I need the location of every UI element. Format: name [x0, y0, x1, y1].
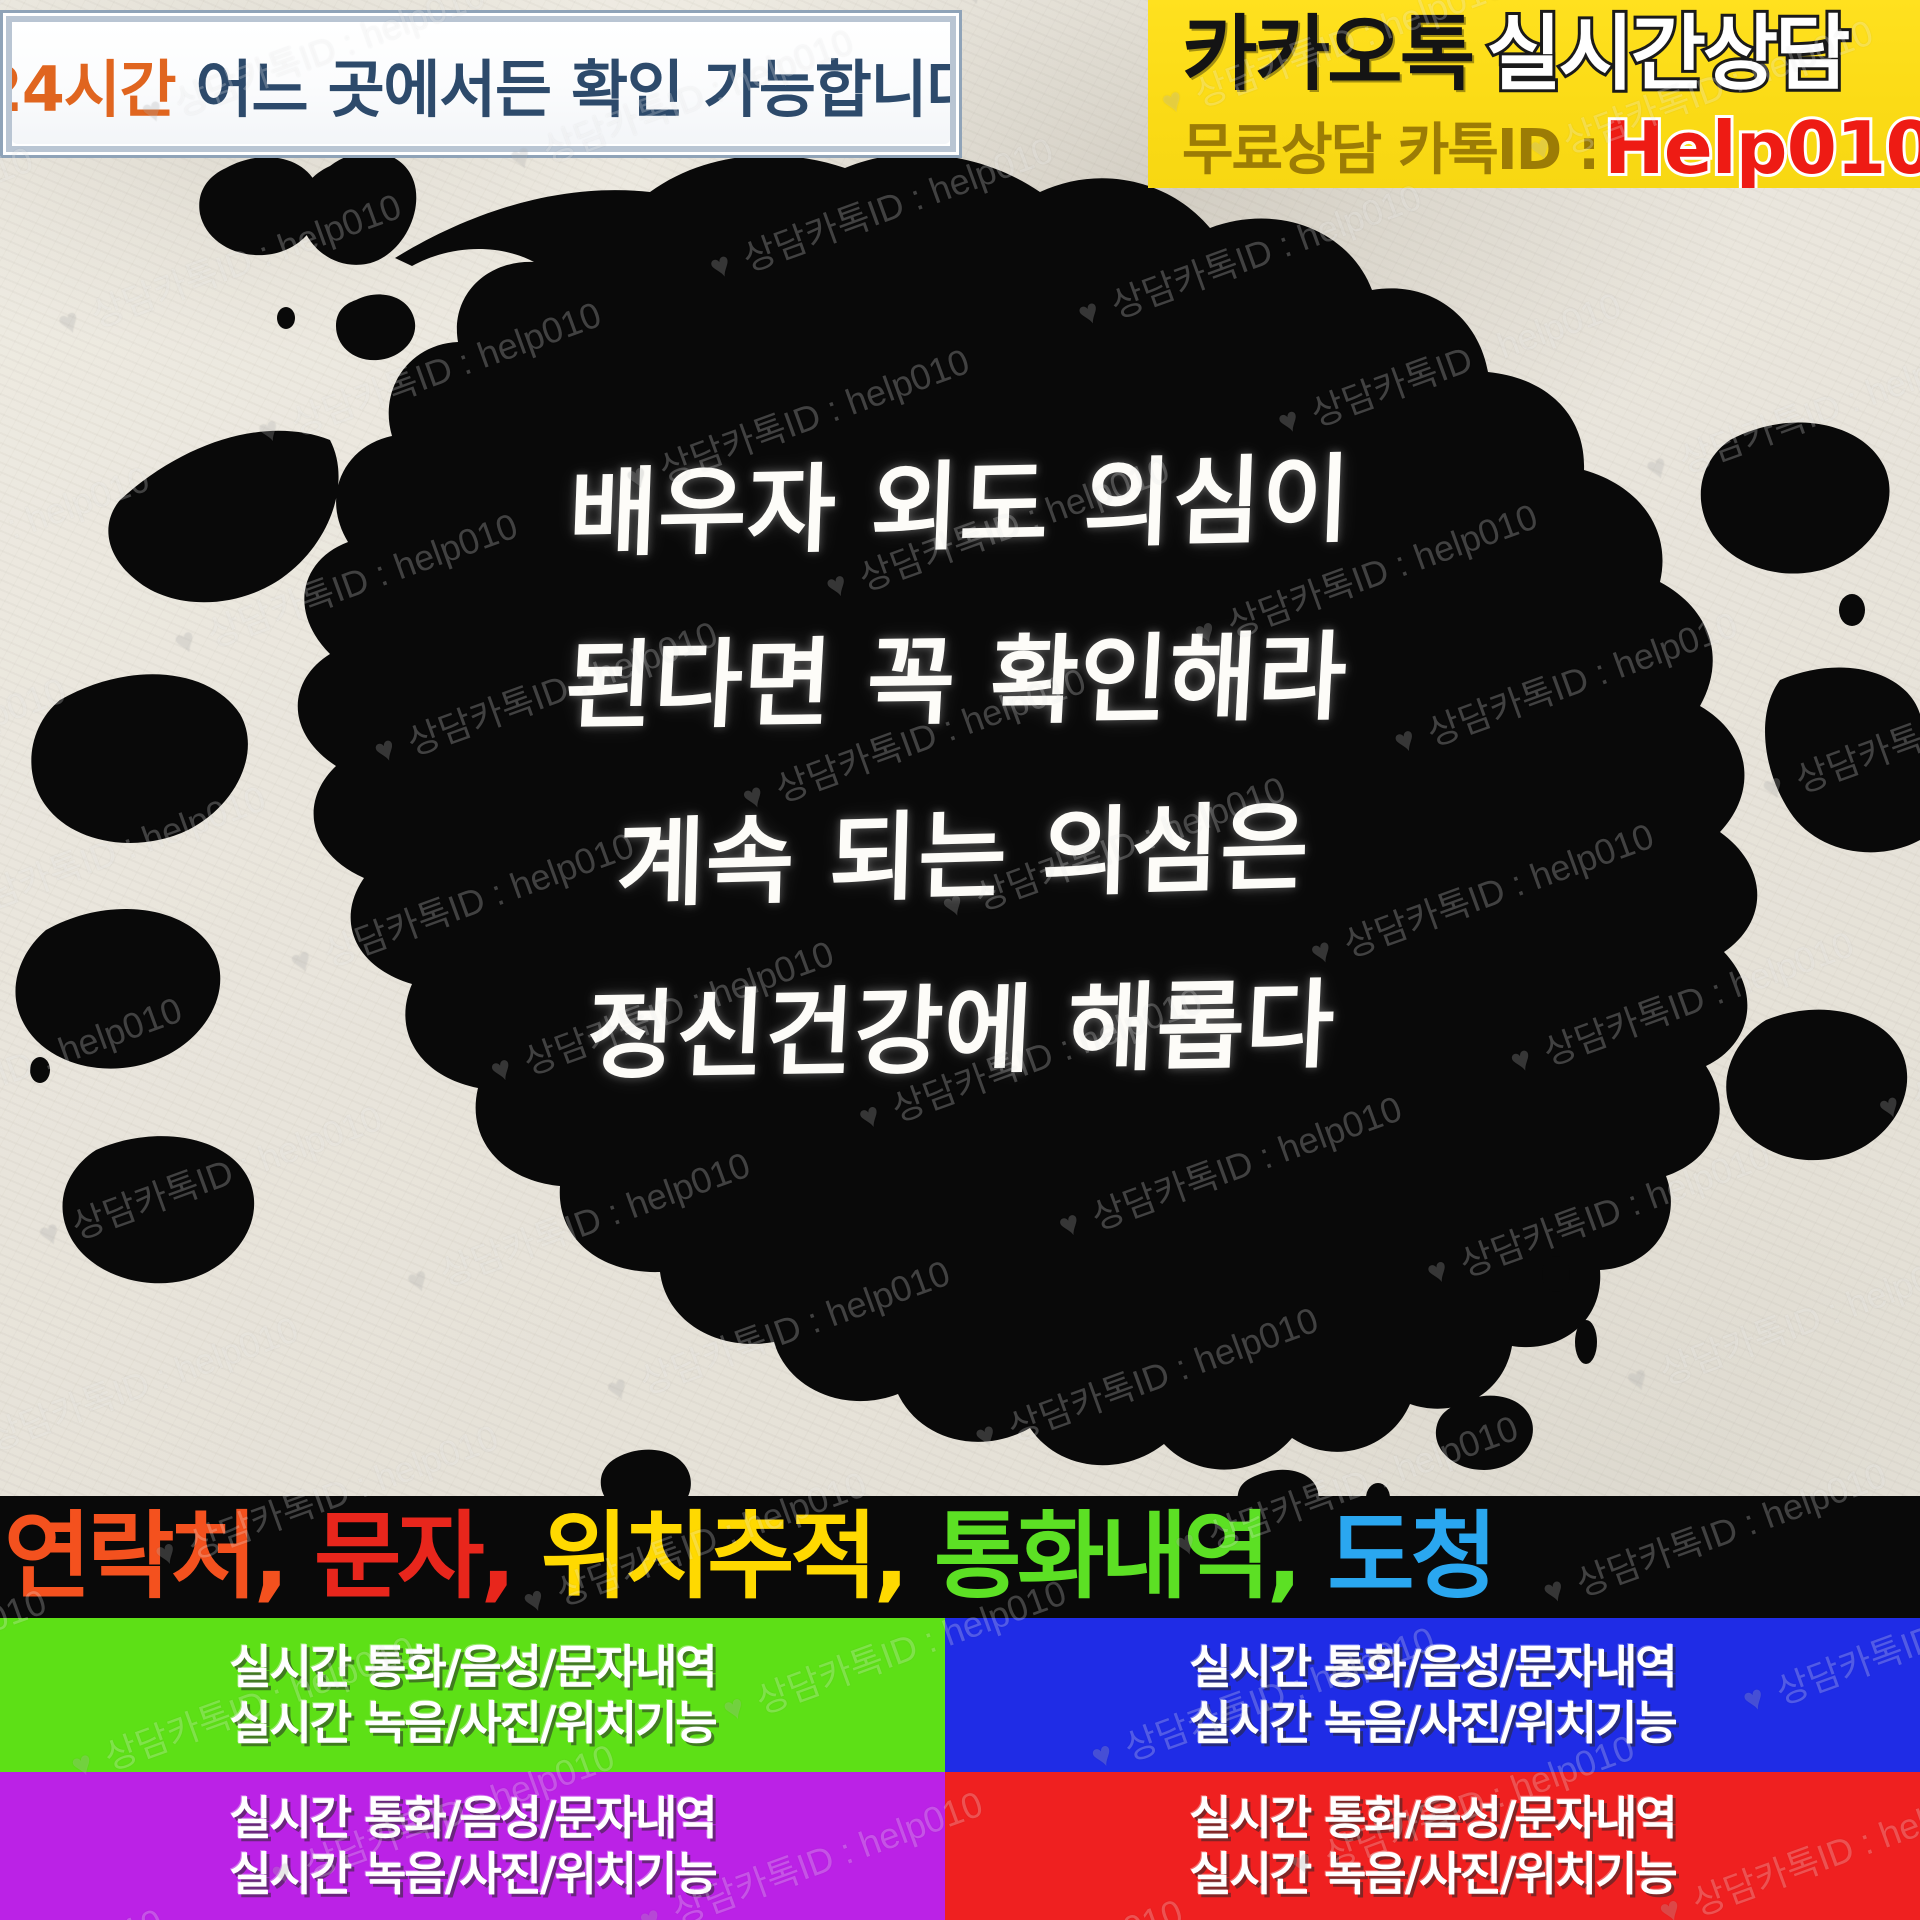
feature-red-line-2: 실시간 녹음/사진/위치기능 — [1189, 1846, 1675, 1902]
feature-green-line-1: 실시간 통화/음성/문자내역 — [229, 1639, 715, 1695]
service-sms: 문자, — [314, 1502, 512, 1612]
kakao-consult-banner[interactable]: 카카오톡실시간상담 무료상담 카톡ID : Help010 — [1148, 0, 1920, 188]
feature-panel-grid: 실시간 통화/음성/문자내역 실시간 녹음/사진/위치기능 실시간 통화/음성/… — [0, 1618, 1920, 1920]
availability-banner-inner: 24시간 어느 곳에서든 확인 가능합니다 — [12, 24, 950, 144]
free-consult-label: 무료상담 카톡ID : — [1182, 123, 1598, 179]
services-cta-text: 연락처, 문자, 위치추적, 통화내역, 도청 — [0, 1510, 1493, 1605]
feature-panel-blue[interactable]: 실시간 통화/음성/문자내역 실시간 녹음/사진/위치기능 — [945, 1618, 1920, 1772]
service-call-log: 통화내역, — [934, 1502, 1298, 1612]
availability-banner-text: 24시간 어느 곳에서든 확인 가능합니다 — [12, 39, 950, 129]
feature-panel-red[interactable]: 실시간 통화/음성/문자내역 실시간 녹음/사진/위치기능 — [945, 1772, 1920, 1920]
service-location: 위치추적, — [541, 1502, 905, 1612]
realtime-consult-label: 실시간상담 — [1486, 7, 1847, 102]
ink-blot — [0, 140, 1920, 1520]
feature-green-line-2: 실시간 녹음/사진/위치기능 — [229, 1695, 715, 1751]
kakao-id-value[interactable]: Help010 — [1604, 112, 1920, 184]
services-cta-strip: 연락처, 문자, 위치추적, 통화내역, 도청 — [0, 1496, 1920, 1618]
feature-panel-green[interactable]: 실시간 통화/음성/문자내역 실시간 녹음/사진/위치기능 — [0, 1618, 945, 1772]
poster-root: 배우자 외도 의심이 된다면 꼭 확인해라 계속 되는 의심은 정신건강에 해롭… — [0, 0, 1920, 1920]
feature-purple-line-1: 실시간 통화/음성/문자내역 — [229, 1790, 715, 1846]
service-wiretap: 도청 — [1327, 1502, 1493, 1612]
kakao-label: 카카오톡 — [1182, 7, 1472, 102]
kakao-banner-subline: 무료상담 카톡ID : Help010 — [1182, 108, 1920, 180]
feature-red-line-1: 실시간 통화/음성/문자내역 — [1189, 1790, 1675, 1846]
feature-purple-line-2: 실시간 녹음/사진/위치기능 — [229, 1846, 715, 1902]
feature-blue-line-2: 실시간 녹음/사진/위치기능 — [1189, 1695, 1675, 1751]
availability-rest: 어느 곳에서든 확인 가능합니다 — [175, 53, 950, 126]
feature-blue-line-1: 실시간 통화/음성/문자내역 — [1189, 1639, 1675, 1695]
service-contacts: 연락처, — [4, 1502, 285, 1612]
availability-highlight: 24시간 — [12, 53, 175, 126]
kakao-banner-headline: 카카오톡실시간상담 — [1182, 14, 1847, 96]
feature-panel-purple[interactable]: 실시간 통화/음성/문자내역 실시간 녹음/사진/위치기능 — [0, 1772, 945, 1920]
availability-banner: 24시간 어느 곳에서든 확인 가능합니다 — [0, 10, 962, 158]
